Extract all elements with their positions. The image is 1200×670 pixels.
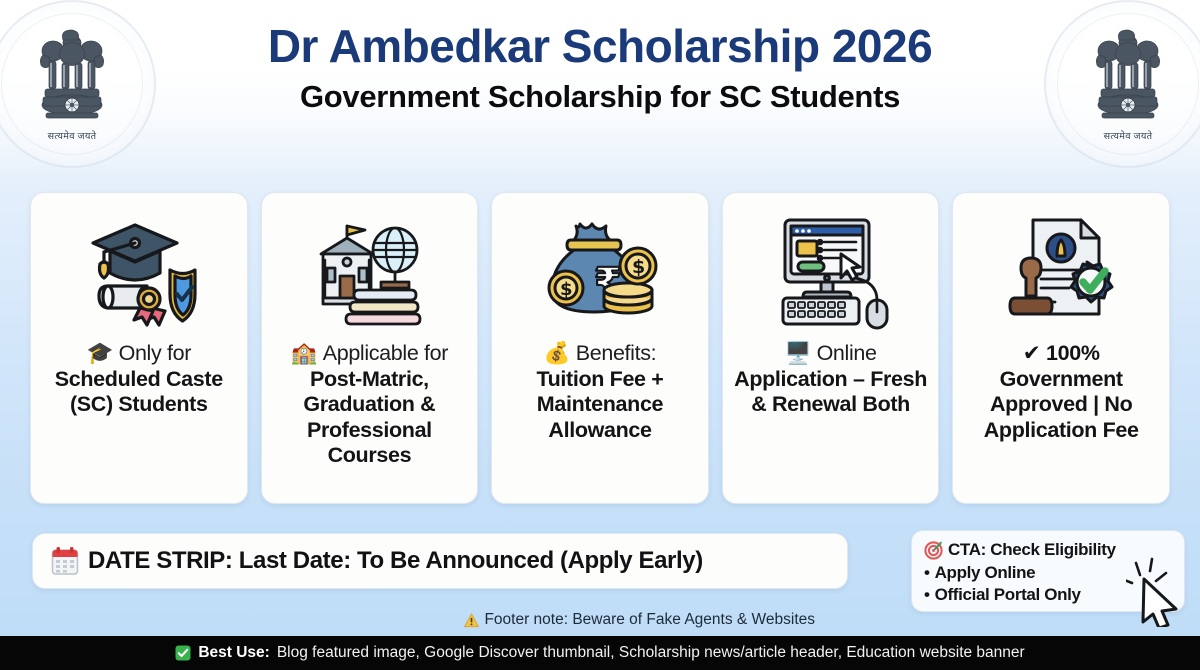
feature-card-headline: Post-Matric, Graduation & Professional C… [303, 367, 435, 468]
bottom-usage-bar: Best Use: Blog featured image, Google Di… [0, 636, 1200, 670]
page-subtitle: Government Scholarship for SC Students [140, 80, 1060, 114]
feature-card-text: ✔ 100% Government Approved | No Applicat… [961, 341, 1161, 443]
calendar-icon [51, 546, 79, 576]
school-building-globe-books-icon [270, 205, 470, 337]
feature-card-headline: Scheduled Caste (SC) Students [55, 367, 223, 417]
warning-icon [464, 613, 479, 628]
graduation-cap-emoji: 🎓 [87, 341, 113, 366]
bullet-icon: • [924, 562, 930, 585]
bottom-bar-text: Blog featured image, Google Discover thu… [277, 644, 1025, 662]
feature-card-headline: Tuition Fee + Maintenance Allowance [536, 367, 663, 442]
feature-card-government-approved[interactable]: ✔ 100% Government Approved | No Applicat… [952, 192, 1170, 504]
feature-card-lead: Applicable for [323, 341, 448, 365]
national-emblem-left: सत्यमेव जयते [6, 4, 138, 164]
cta-item-label: Official Portal Only [935, 584, 1081, 607]
feature-card-online-application[interactable]: 🖥️ Online Application – Fresh & Renewal … [722, 192, 940, 504]
feature-card-text: 💰 Benefits: Tuition Fee + Maintenance Al… [500, 341, 700, 443]
feature-card-lead: Online [817, 341, 877, 365]
feature-card-courses[interactable]: 🏫 Applicable for Post-Matric, Graduation… [261, 192, 479, 504]
feature-card-headline: Application – Fresh & Renewal Both [734, 367, 927, 417]
cta-box[interactable]: CTA: Check Eligibility • Apply Online • … [911, 530, 1185, 612]
feature-card-text: 🏫 Applicable for Post-Matric, Graduation… [270, 341, 470, 469]
cta-item-label: Apply Online [935, 562, 1036, 585]
poster-canvas: सत्यमेव जयते [0, 0, 1200, 670]
emblem-motto-text: सत्यमेव जयते [48, 129, 97, 142]
feature-card-lead: 100% [1046, 341, 1100, 365]
page-title: Dr Ambedkar Scholarship 2026 [140, 22, 1060, 71]
school-building-emoji: 🏫 [291, 341, 317, 366]
feature-card-eligibility[interactable]: 🎓 Only for Scheduled Caste (SC) Students [30, 192, 248, 504]
graduation-cap-diploma-shield-icon [39, 205, 239, 337]
target-dart-icon [924, 541, 943, 560]
ashoka-lion-capital-icon [1085, 27, 1171, 131]
mouse-cursor-click-icon [1126, 555, 1192, 627]
cta-heading-text: CTA: Check Eligibility [948, 539, 1116, 562]
desktop-computer-emoji: 🖥️ [785, 341, 811, 366]
check-mark-button-icon [175, 645, 191, 661]
feature-card-lead: Only for [119, 341, 191, 365]
svg-text:$: $ [632, 256, 645, 278]
feature-card-row: 🎓 Only for Scheduled Caste (SC) Students [30, 192, 1170, 504]
date-strip-text: DATE STRIP: Last Date: To Be Announced (… [88, 547, 703, 575]
feature-card-text: 🎓 Only for Scheduled Caste (SC) Students [39, 341, 239, 418]
date-strip-banner[interactable]: DATE STRIP: Last Date: To Be Announced (… [32, 533, 848, 589]
certificate-stamp-verified-icon [961, 205, 1161, 337]
national-emblem-right: सत्यमेव जयते [1062, 4, 1194, 164]
money-bag-emoji: 💰 [544, 341, 570, 366]
svg-text:$: $ [560, 279, 573, 300]
feature-card-headline: Government Approved | No Application Fee [984, 367, 1139, 442]
desktop-computer-keyboard-mouse-icon [731, 205, 931, 337]
feature-card-text: 🖥️ Online Application – Fresh & Renewal … [731, 341, 931, 418]
feature-card-benefits[interactable]: ₹ $ $ 💰 [491, 192, 709, 504]
money-bag-rupee-coins-icon: ₹ $ $ [500, 205, 700, 337]
emblem-motto-text: सत्यमेव जयते [1104, 129, 1153, 142]
bullet-icon: • [924, 584, 930, 607]
footer-note: Footer note: Beware of Fake Agents & Web… [464, 611, 815, 629]
check-mark-icon: ✔ [1023, 341, 1041, 365]
poster-header: Dr Ambedkar Scholarship 2026 Government … [140, 22, 1060, 114]
feature-card-lead: Benefits: [576, 341, 657, 365]
ashoka-lion-capital-icon [29, 27, 115, 131]
bottom-bar-label: Best Use: [198, 644, 270, 662]
footer-note-text: Footer note: Beware of Fake Agents & Web… [484, 611, 815, 629]
